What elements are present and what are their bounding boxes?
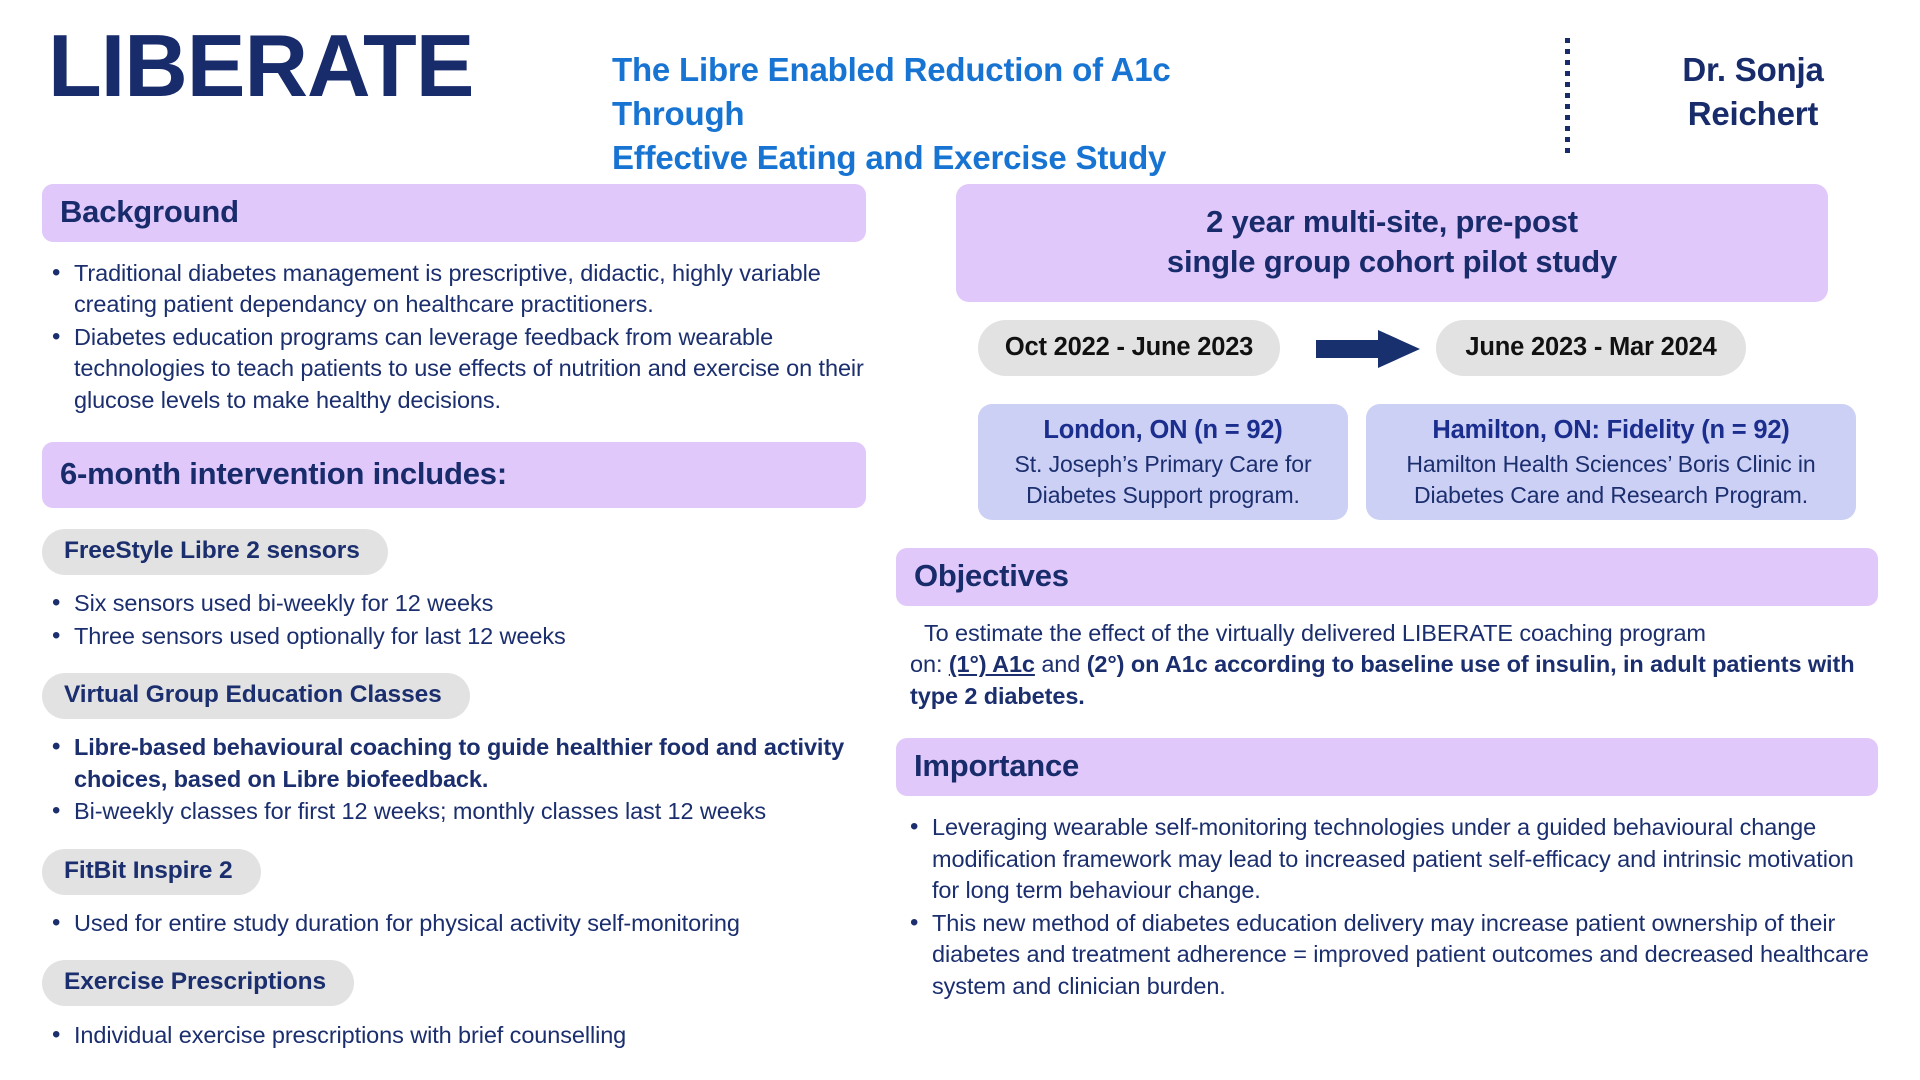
- list-item: Used for entire study duration for physi…: [42, 908, 866, 939]
- poster-header: LIBERATE The Libre Enabled Reduction of …: [0, 0, 1920, 170]
- objectives-detail: on: (1°) A1c and (2°) on A1c according t…: [910, 649, 1868, 712]
- list-item: Traditional diabetes management is presc…: [42, 258, 866, 321]
- list-item: Bi-weekly classes for first 12 weeks; mo…: [42, 796, 866, 827]
- subtitle-line-1: The Libre Enabled Reduction of A1c Throu…: [612, 48, 1272, 136]
- objectives-prefix: on:: [910, 651, 949, 677]
- study-design-box: 2 year multi-site, pre-post single group…: [956, 184, 1828, 302]
- subtitle-line-2: Effective Eating and Exercise Study: [612, 136, 1272, 180]
- intervention-bullets-group-2: Libre-based behavioural coaching to guid…: [42, 732, 866, 827]
- section-header-intervention: 6-month intervention includes:: [42, 442, 866, 508]
- author-line-2: Reichert: [1608, 92, 1898, 136]
- site-box-london: London, ON (n = 92) St. Joseph’s Primary…: [978, 404, 1348, 520]
- pill-freestyle-libre-sensors: FreeStyle Libre 2 sensors: [42, 529, 388, 575]
- timeline-phase-1: Oct 2022 - June 2023: [978, 320, 1280, 376]
- importance-bullet-list: Leveraging wearable self-monitoring tech…: [896, 812, 1878, 1002]
- intervention-bullets-group-4: Individual exercise prescriptions with b…: [42, 1020, 866, 1051]
- list-item: This new method of diabetes education de…: [900, 908, 1878, 1002]
- left-column: Background Traditional diabetes manageme…: [42, 184, 866, 1053]
- study-design-line-2: single group cohort pilot study: [966, 242, 1818, 282]
- study-design-line-1: 2 year multi-site, pre-post: [966, 202, 1818, 242]
- pill-virtual-group-education-classes: Virtual Group Education Classes: [42, 673, 470, 719]
- study-sites: London, ON (n = 92) St. Joseph’s Primary…: [896, 404, 1878, 536]
- list-item: Individual exercise prescriptions with b…: [42, 1020, 866, 1051]
- timeline-phase-2: June 2023 - Mar 2024: [1436, 320, 1746, 376]
- site-title: London, ON (n = 92): [992, 416, 1334, 445]
- arrow-right-icon: [1316, 330, 1420, 368]
- list-item: Libre-based behavioural coaching to guid…: [42, 732, 866, 795]
- poster-canvas: LIBERATE The Libre Enabled Reduction of …: [0, 0, 1920, 1080]
- brand-title: LIBERATE: [48, 22, 473, 110]
- author-line-1: Dr. Sonja: [1608, 48, 1898, 92]
- background-bullet-list: Traditional diabetes management is presc…: [42, 258, 866, 416]
- objectives-primary-outcome: (1°) A1c: [949, 651, 1035, 677]
- pill-exercise-prescriptions: Exercise Prescriptions: [42, 960, 354, 1006]
- study-timeline: Oct 2022 - June 2023 June 2023 - Mar 202…: [956, 320, 1828, 390]
- list-item: Diabetes education programs can leverage…: [42, 322, 866, 416]
- section-header-objectives: Objectives: [896, 548, 1878, 606]
- pill-fitbit-inspire: FitBit Inspire 2: [42, 849, 261, 895]
- objectives-body: To estimate the effect of the virtually …: [896, 606, 1878, 712]
- site-box-hamilton: Hamilton, ON: Fidelity (n = 92) Hamilton…: [1366, 404, 1856, 520]
- list-item: Three sensors used optionally for last 1…: [42, 621, 866, 652]
- site-description: Hamilton Health Sciences’ Boris Clinic i…: [1380, 449, 1842, 510]
- site-title: Hamilton, ON: Fidelity (n = 92): [1380, 416, 1842, 445]
- list-item: Leveraging wearable self-monitoring tech…: [900, 812, 1878, 906]
- section-header-importance: Importance: [896, 738, 1878, 796]
- objectives-conjunction: and: [1035, 651, 1087, 677]
- site-description: St. Joseph’s Primary Care for Diabetes S…: [992, 449, 1334, 510]
- poster-subtitle: The Libre Enabled Reduction of A1c Throu…: [612, 48, 1272, 180]
- section-header-background: Background: [42, 184, 866, 242]
- intervention-bullets-group-1: Six sensors used bi-weekly for 12 weeks …: [42, 588, 866, 652]
- right-column: 2 year multi-site, pre-post single group…: [896, 184, 1878, 1003]
- author-name: Dr. Sonja Reichert: [1608, 48, 1898, 136]
- dotted-divider-icon: [1565, 38, 1570, 158]
- intervention-bullets-group-3: Used for entire study duration for physi…: [42, 908, 866, 939]
- objectives-lead: To estimate the effect of the virtually …: [910, 618, 1868, 649]
- list-item: Six sensors used bi-weekly for 12 weeks: [42, 588, 866, 619]
